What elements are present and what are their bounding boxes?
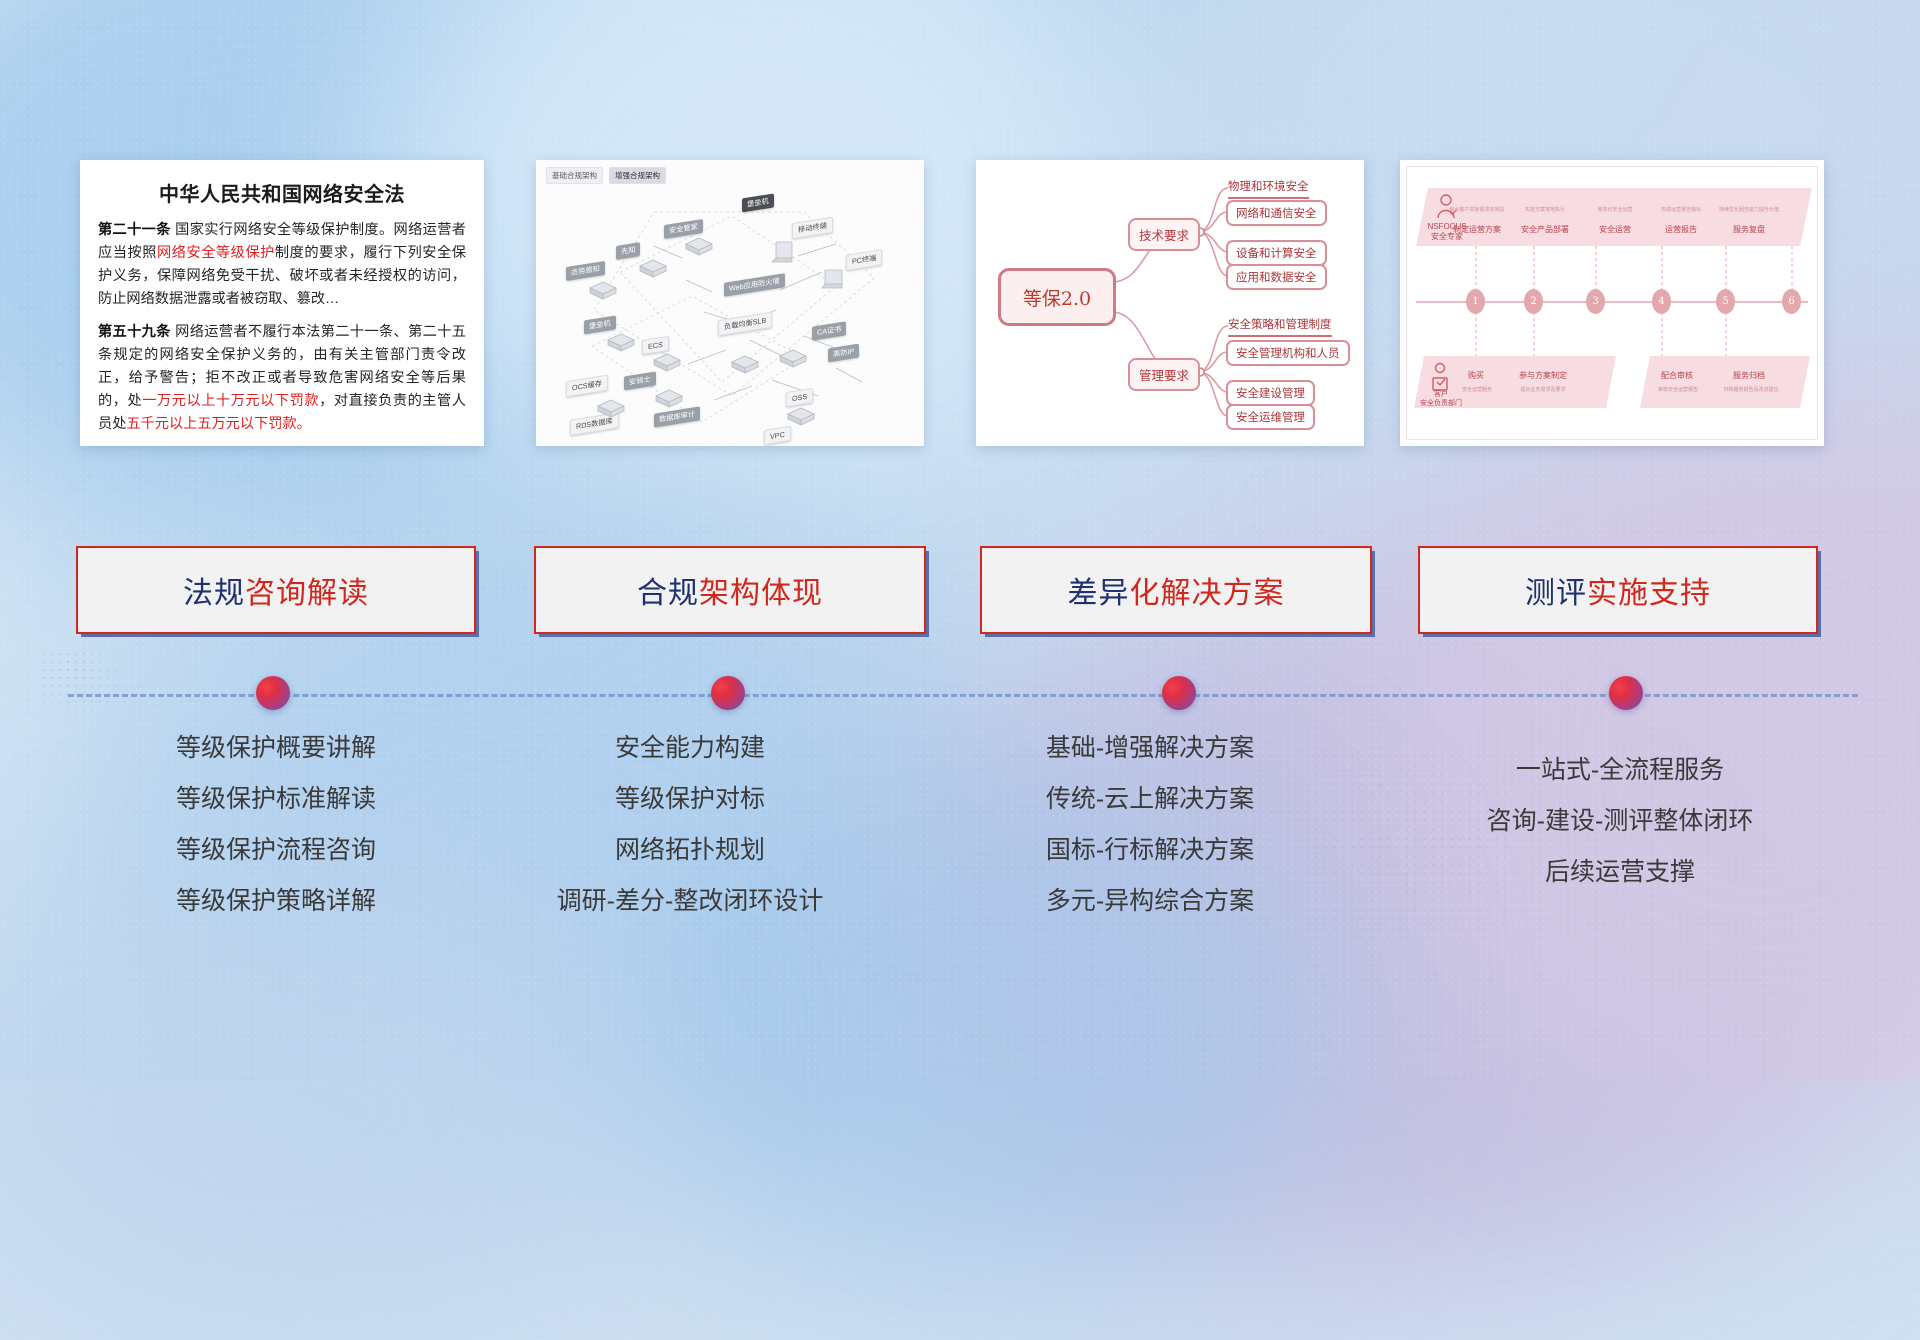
nsfocus-bottom-step-sub: 审核安全运营报告 — [1642, 386, 1714, 393]
detail-list-row: 等级保护概要讲解 等级保护标准解读 等级保护流程咨询 等级保护策略详解 安全能力… — [0, 736, 1920, 976]
list-item: 基础-增强解决方案 — [950, 736, 1350, 761]
section-header-differentiated-solution[interactable]: 差异化解决方案 — [980, 546, 1372, 634]
list-item: 多元-异构综合方案 — [950, 889, 1350, 914]
nsfocus-step-sub: 结合客户实际需求定制具 — [1444, 206, 1510, 213]
header-prefix: 法规 — [183, 577, 245, 610]
mindmap-leaf[interactable]: 物理和环境安全 — [1228, 178, 1309, 199]
mindmap-branch-management[interactable]: 管理要求 — [1128, 358, 1200, 391]
detail-list-assessment: 一站式-全流程服务 咨询-建设-测评整体闭环 后续运营支撑 — [1410, 736, 1830, 911]
nsfocus-step-number[interactable]: 4 — [1652, 289, 1671, 314]
nsfocus-step-label[interactable]: 安全运营 — [1588, 224, 1642, 235]
section-header-compliance-architecture[interactable]: 合规架构体现 — [534, 546, 926, 634]
law-document-body: 中华人民共和国网络安全法 第二十一条 国家实行网络安全等级保护制度。网络运营者应… — [80, 160, 484, 446]
nsfocus-timeline-card[interactable]: NSFOCUS 安全专家 结合客户实际需求定制具 制定运营方案 实施方案落地执行… — [1400, 160, 1824, 446]
nsfocus-bottom-step-sub: 归档服务报告及改进建议 — [1710, 386, 1792, 393]
law-article-number: 第二十一条 — [98, 222, 171, 238]
thumbnail-card-row: 中华人民共和国网络安全法 第二十一条 国家实行网络安全等级保护制度。网络运营者应… — [0, 152, 1920, 452]
timeline-marker-3[interactable] — [1162, 676, 1196, 710]
list-item: 一站式-全流程服务 — [1410, 758, 1830, 783]
nsfocus-step-number[interactable]: 2 — [1524, 289, 1543, 314]
mindmap-leaf[interactable]: 安全管理机构和人员 — [1226, 340, 1350, 366]
mindmap-leaf[interactable]: 安全建设管理 — [1226, 380, 1315, 406]
slide-stage: 中华人民共和国网络安全法 第二十一条 国家实行网络安全等级保护制度。网络运营者应… — [0, 0, 1920, 1080]
timeline-dashed-line — [68, 694, 1858, 697]
nsfocus-bottom-step-label[interactable]: 配合审核 — [1652, 370, 1702, 381]
nsfocus-bottom-step-label[interactable]: 购买 — [1456, 370, 1496, 381]
section-header-regulation-consulting[interactable]: 法规咨询解读 — [76, 546, 476, 634]
list-item: 调研-差分-整改闭环设计 — [490, 889, 890, 914]
header-prefix: 合规 — [637, 577, 699, 610]
list-item: 咨询-建设-测评整体闭环 — [1410, 809, 1830, 834]
header-suffix: 架构体现 — [699, 577, 823, 610]
timeline-marker-2[interactable] — [711, 676, 745, 710]
list-item: 传统-云上解决方案 — [950, 787, 1350, 812]
nsfocus-step-label[interactable]: 安全产品部署 — [1514, 224, 1576, 235]
detail-list-architecture: 安全能力构建 等级保护对标 网络拓扑规划 调研-差分-整改闭环设计 — [490, 736, 890, 940]
law-run-highlight: 一万元以上十万元以下罚款 — [142, 393, 319, 409]
nsfocus-step-number[interactable]: 5 — [1716, 289, 1735, 314]
nsfocus-step-number[interactable]: 1 — [1466, 289, 1485, 314]
mindmap-leaf[interactable]: 应用和数据安全 — [1226, 264, 1327, 290]
nsfocus-bottom-step-sub: 安全运营服务 — [1446, 386, 1508, 393]
list-item: 等级保护标准解读 — [76, 787, 476, 812]
list-item: 安全能力构建 — [490, 736, 890, 761]
section-header-row: 法规咨询解读 合规架构体现 差异化解决方案 测评实施支持 — [0, 546, 1920, 638]
mindmap-leaf[interactable]: 安全策略和管理制度 — [1228, 316, 1332, 337]
detail-list-solution: 基础-增强解决方案 传统-云上解决方案 国标-行标解决方案 多元-异构综合方案 — [950, 736, 1350, 940]
section-header-text: 合规架构体现 — [637, 568, 823, 612]
customer-role-line2: 安全负责部门 — [1420, 400, 1462, 407]
section-header-text: 差异化解决方案 — [1068, 568, 1285, 612]
architecture-canvas: 基础合规架构 增强合规架构 — [536, 160, 924, 446]
timeline-track — [0, 660, 1920, 730]
list-item: 网络拓扑规划 — [490, 838, 890, 863]
law-title: 中华人民共和国网络安全法 — [98, 178, 466, 207]
section-header-text: 测评实施支持 — [1525, 568, 1711, 612]
section-header-text: 法规咨询解读 — [183, 568, 369, 612]
nsfocus-step-number[interactable]: 6 — [1782, 289, 1801, 314]
header-suffix: 实施支持 — [1587, 577, 1711, 610]
law-run-highlight: 五千元以上五万元以下罚款。 — [126, 416, 310, 432]
list-item: 等级保护概要讲解 — [76, 736, 476, 761]
nsfocus-step-sub: 常态化安全运营 — [1582, 206, 1648, 213]
mindmap-canvas: 等保2.0 技术要求 管理要求 物理和环境安全 网络和通信安全 设备和计算安全 … — [976, 160, 1364, 446]
nsfocus-step-number[interactable]: 3 — [1586, 289, 1605, 314]
mindmap-leaf[interactable]: 安全运维管理 — [1226, 404, 1315, 430]
list-item: 等级保护策略详解 — [76, 889, 476, 914]
nsfocus-bottom-step-label[interactable]: 服务归档 — [1724, 370, 1774, 381]
nsfocus-canvas: NSFOCUS 安全专家 结合客户实际需求定制具 制定运营方案 实施方案落地执行… — [1400, 160, 1824, 446]
law-paragraph: 第二十一条 国家实行网络安全等级保护制度。网络运营者应当按照网络安全等级保护制度… — [98, 219, 466, 311]
header-suffix: 咨询解读 — [245, 577, 369, 610]
architecture-diagram-card[interactable]: 基础合规架构 增强合规架构 — [536, 160, 924, 446]
header-suffix: 化解决方案 — [1130, 577, 1285, 610]
nsfocus-step-sub: 形成运营报告输出 — [1648, 206, 1714, 213]
architecture-server-icons — [536, 160, 924, 446]
nsfocus-bottom-step-sub: 提出业务需求及要求 — [1504, 386, 1582, 393]
law-document-card[interactable]: 中华人民共和国网络安全法 第二十一条 国家实行网络安全等级保护制度。网络运营者应… — [80, 160, 484, 446]
mindmap-branch-technical[interactable]: 技术要求 — [1128, 218, 1200, 251]
list-item: 等级保护对标 — [490, 787, 890, 812]
tab-enhanced-architecture[interactable]: 增强合规架构 — [609, 167, 666, 184]
architecture-tab-bar[interactable]: 基础合规架构 增强合规架构 — [546, 167, 666, 184]
timeline-marker-1[interactable] — [256, 676, 290, 710]
list-item: 后续运营支撑 — [1410, 860, 1830, 885]
nsfocus-step-sub: 实施方案落地执行 — [1512, 206, 1578, 213]
nsfocus-step-label[interactable]: 制定运营方案 — [1448, 224, 1506, 235]
law-run-highlight: 网络安全等级保护 — [157, 245, 275, 261]
list-item: 等级保护流程咨询 — [76, 838, 476, 863]
header-prefix: 测评 — [1525, 577, 1587, 610]
nsfocus-step-label[interactable]: 服务复盘 — [1722, 224, 1776, 235]
law-article-number: 第五十九条 — [98, 324, 171, 340]
mindmap-leaf[interactable]: 设备和计算安全 — [1226, 240, 1327, 266]
mindmap-card[interactable]: 等保2.0 技术要求 管理要求 物理和环境安全 网络和通信安全 设备和计算安全 … — [976, 160, 1364, 446]
list-item: 国标-行标解决方案 — [950, 838, 1350, 863]
mindmap-root-node[interactable]: 等保2.0 — [998, 268, 1116, 326]
nsfocus-bottom-step-label[interactable]: 参与方案制定 — [1508, 370, 1578, 381]
nsfocus-step-label[interactable]: 运营报告 — [1654, 224, 1708, 235]
nsfocus-step-sub: 持续优化服务能力提升价值 — [1714, 206, 1784, 213]
timeline-marker-4[interactable] — [1609, 676, 1643, 710]
detail-list-regulation: 等级保护概要讲解 等级保护标准解读 等级保护流程咨询 等级保护策略详解 — [76, 736, 476, 940]
section-header-assessment-support[interactable]: 测评实施支持 — [1418, 546, 1818, 634]
mindmap-leaf[interactable]: 网络和通信安全 — [1226, 200, 1327, 226]
header-prefix: 差异 — [1068, 577, 1130, 610]
tab-basic-architecture[interactable]: 基础合规架构 — [546, 167, 603, 184]
law-paragraph: 第五十九条 网络运营者不履行本法第二十一条、第二十五条规定的网络安全保护义务的，… — [98, 321, 466, 436]
